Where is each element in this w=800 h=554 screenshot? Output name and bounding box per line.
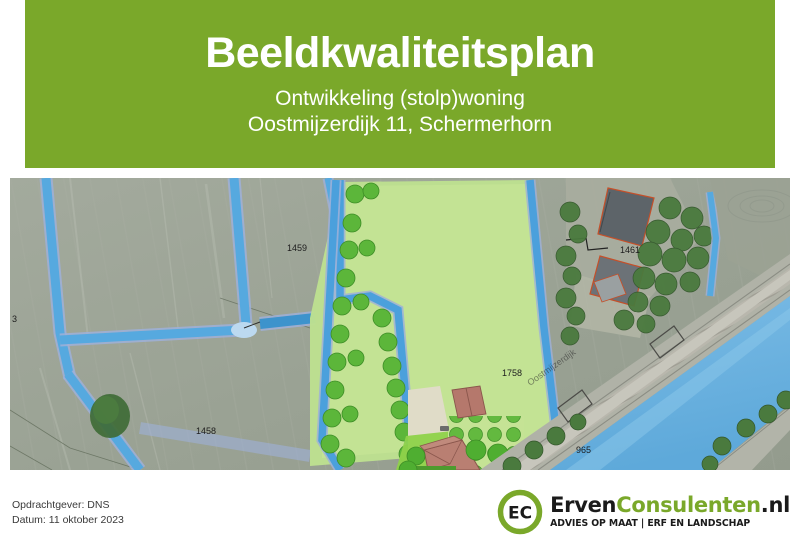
solitary-tree [90, 394, 130, 438]
logo-word-consulenten: Consulenten [616, 493, 761, 517]
logo-tagline: ADVIES OP MAAT | ERF EN LANDSCHAP [550, 519, 790, 528]
site-plan-svg: Oostmijzerdijk [10, 178, 790, 470]
logo-word-tld: .nl [761, 493, 790, 517]
logo-word-erven: Erven [550, 493, 616, 517]
logo-word-row: ErvenConsulenten.nl [550, 495, 790, 516]
logo-monogram-text: EC [508, 504, 532, 524]
outbuilding [452, 386, 486, 418]
title-banner: Beeldkwaliteitsplan Ontwikkeling (stolp)… [25, 0, 775, 168]
ervenconsulenten-logo[interactable]: EC ErvenConsulenten.nl ADVIES OP MAAT | … [497, 489, 790, 535]
page-footer: Opdrachtgever: DNS Datum: 11 oktober 202… [0, 470, 800, 554]
page-title: Beeldkwaliteitsplan [205, 31, 595, 76]
date-line: Datum: 11 oktober 2023 [12, 513, 124, 528]
footer-metadata: Opdrachtgever: DNS Datum: 11 oktober 202… [12, 498, 124, 528]
client-line: Opdrachtgever: DNS [12, 498, 124, 513]
subtitle-line-1: Ontwikkeling (stolp)woning [248, 86, 552, 112]
parcel-label-965: 965 [576, 445, 591, 455]
subtitle-line-2: Oostmijzerdijk 11, Schermerhorn [248, 112, 552, 138]
parcel-label-3: 3 [12, 314, 17, 324]
document-cover-page: Beeldkwaliteitsplan Ontwikkeling (stolp)… [0, 0, 800, 554]
parcel-label-1459: 1459 [287, 243, 307, 253]
ec-monogram-icon: EC [497, 489, 543, 535]
parcel-label-1458: 1458 [196, 426, 216, 436]
logo-wordmark: ErvenConsulenten.nl ADVIES OP MAAT | ERF… [550, 495, 790, 528]
aerial-site-plan-figure: Oostmijzerdijk [10, 178, 790, 470]
page-subtitle: Ontwikkeling (stolp)woning Oostmijzerdij… [248, 86, 552, 137]
parcel-label-1461: 1461 [620, 245, 640, 255]
parked-car [440, 426, 449, 431]
parcel-label-1758: 1758 [502, 368, 522, 378]
